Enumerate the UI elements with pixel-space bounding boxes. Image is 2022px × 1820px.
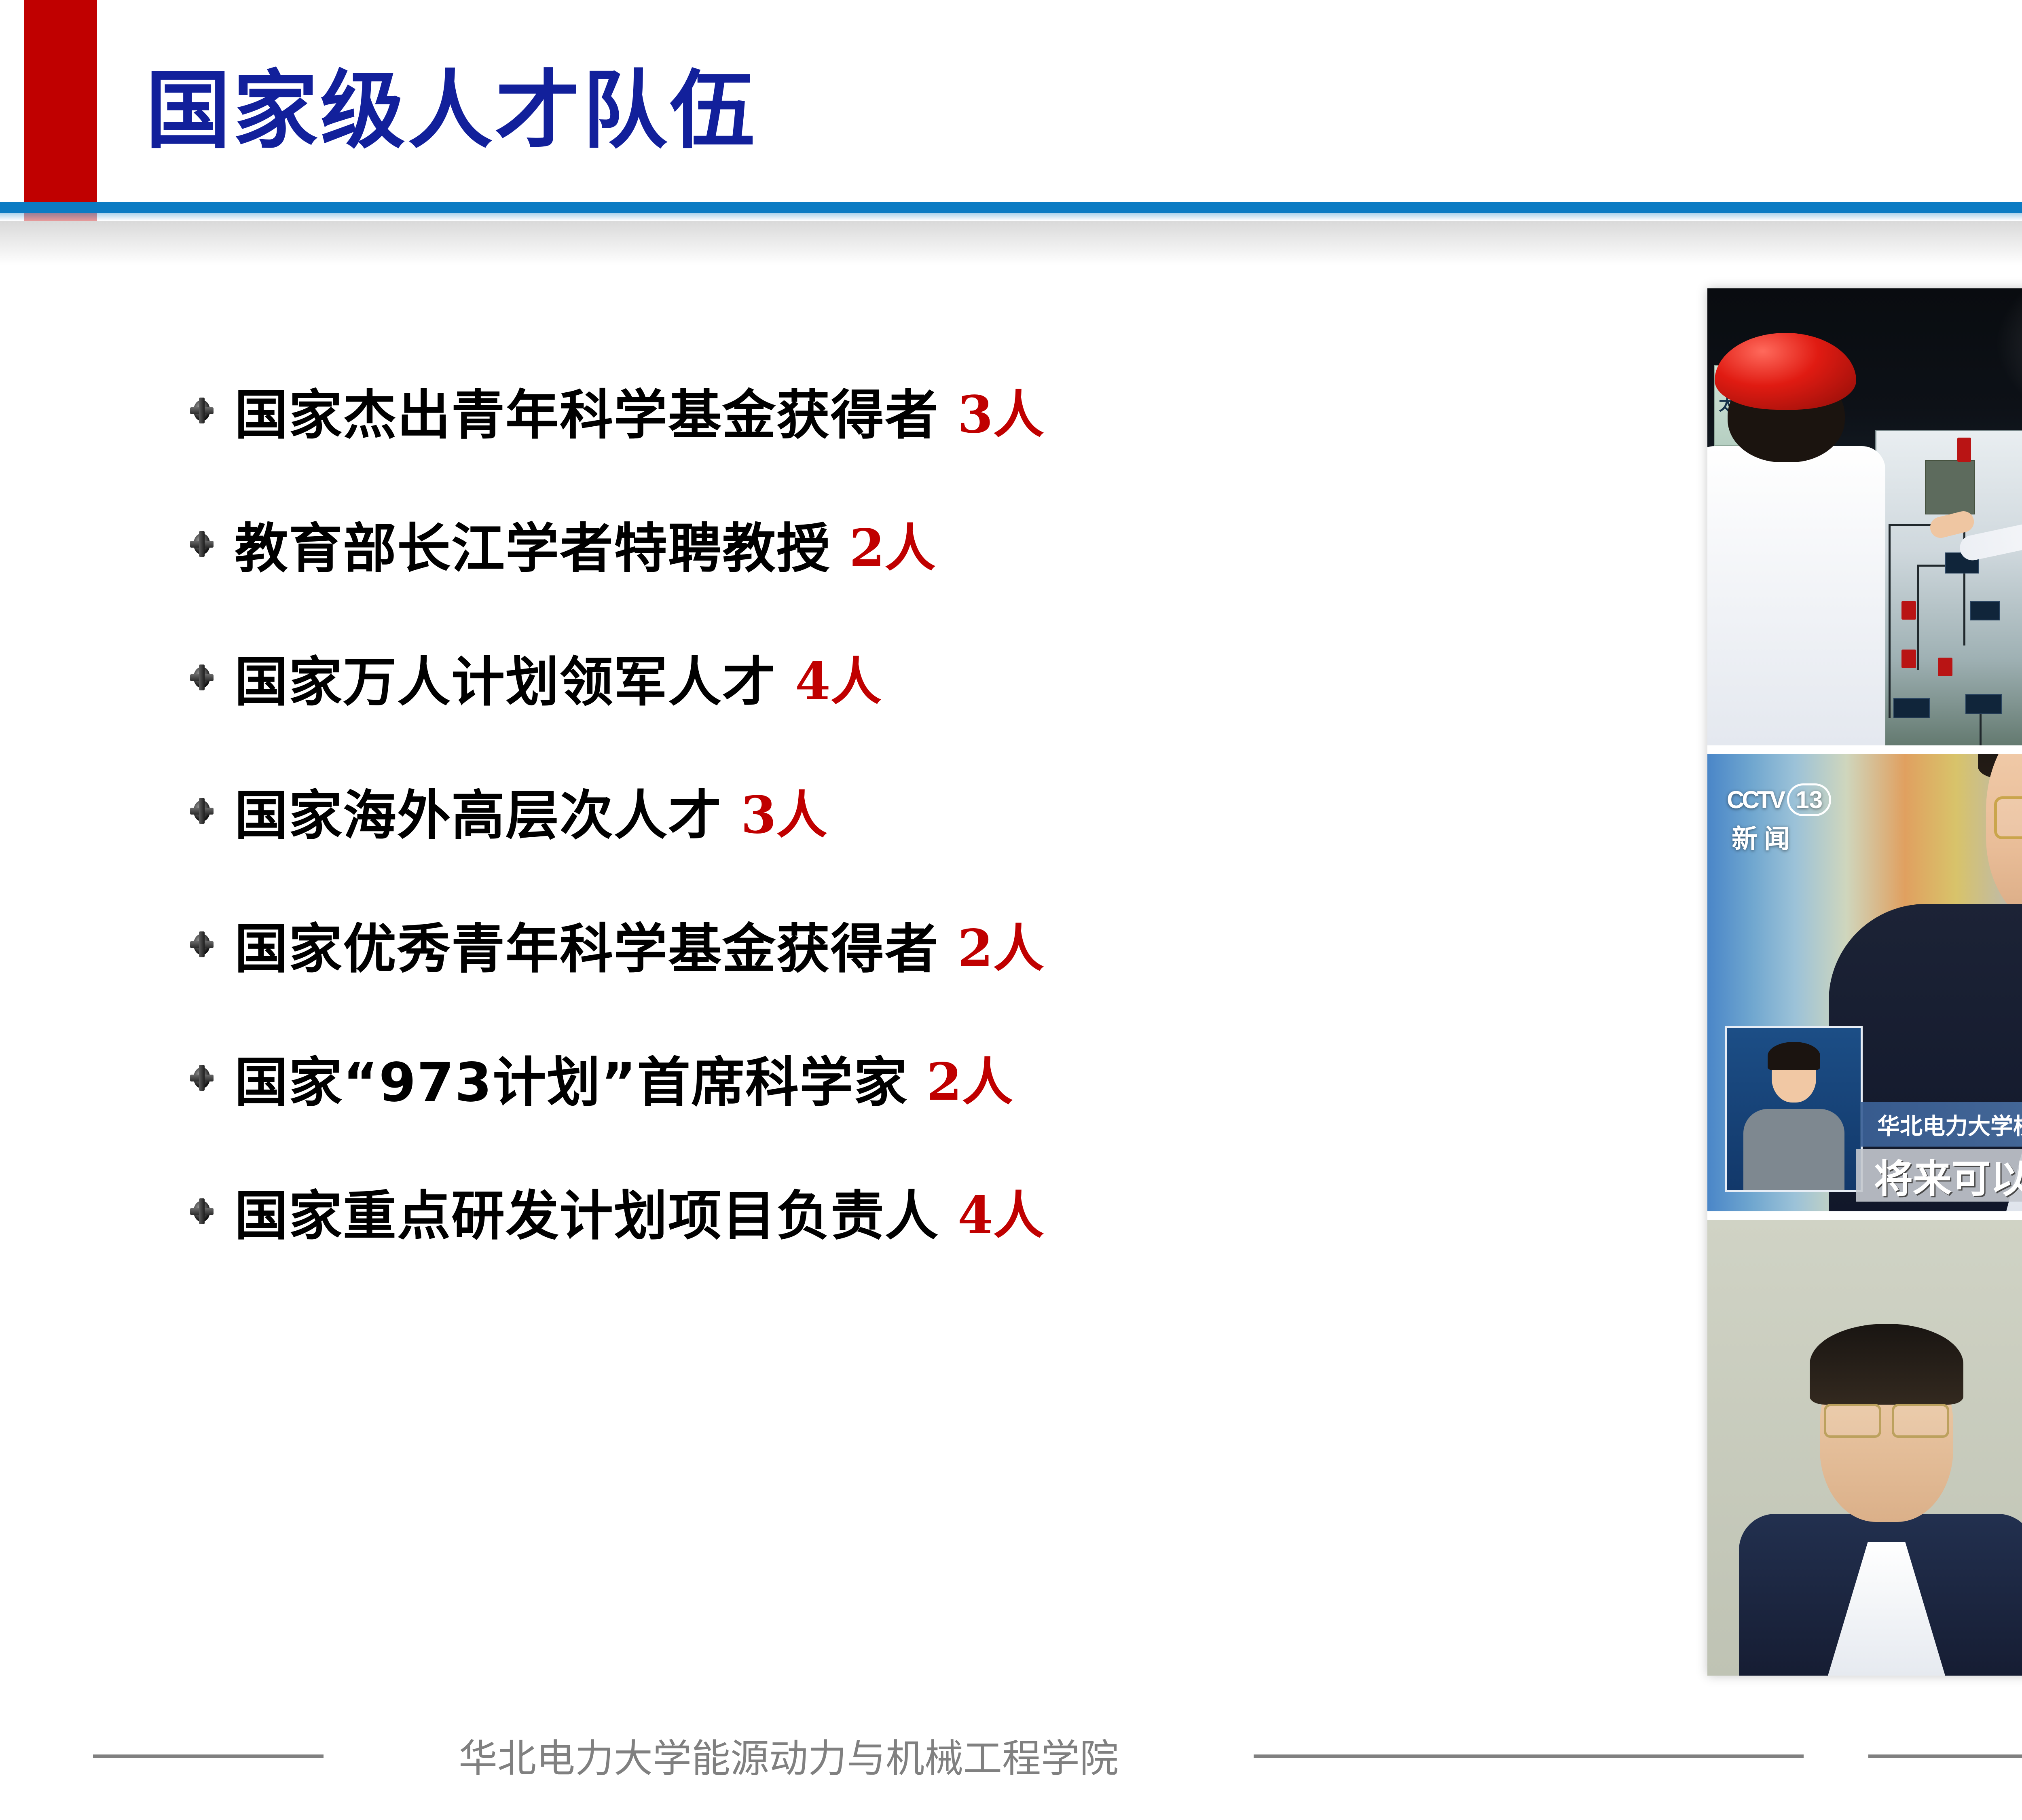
talent-list: 国家杰出青年科学基金获得者 3人 教育部长江学者特聘教授 2人 国家万人计划领军… [190,344,1686,1278]
cctv-lower-third: 华北电力大学校长中国工程物理学会副理事长 杨勇平 [1861,1102,2022,1147]
cctv-channel-sub: 新闻 [1732,818,1796,855]
footer-rule-mid-right [1868,1754,2022,1758]
list-item-count: 2人 [958,908,1044,981]
bullet-orb-icon [190,1198,214,1224]
cctv-logo: CCTV13 [1727,775,1831,817]
eyeglasses-icon [1994,796,2022,835]
list-item-count: 4人 [795,641,882,714]
bullet-orb-icon [190,798,214,824]
list-item-count: 3人 [741,774,827,848]
header-gradient-wash [0,221,2022,265]
list-item-count: 3人 [958,374,1044,447]
eyeglasses-icon [1824,1404,1949,1433]
list-item: 国家“973计划”首席科学家 2人 [190,1011,1686,1145]
photo-cctv-interview: CCTV13 新闻 央新 华北电力大学校长中国工程物理学会副理事长 杨勇平 [1707,754,2022,1211]
portrait-3 [1707,1220,2022,1676]
collage-row-1: 华北电力 太原东部 [1707,288,2022,745]
bullet-orb-icon [190,398,214,423]
footer-rule-mid-left [1254,1754,1804,1758]
photo-laboratory: 华北电力 太原东部 [1707,288,2022,745]
list-item-label: 国家“973计划”首席科学家 [235,1039,908,1117]
list-item-label: 国家杰出青年科学基金获得者 [235,372,939,449]
page-title: 国家级人才队伍 [146,36,1197,170]
list-item: 国家优秀青年科学基金获得者 2人 [190,878,1686,1011]
list-item: 教育部长江学者特聘教授 2人 [190,477,1686,611]
header-blue-bar-reflection [0,213,2022,221]
list-item: 国家杰出青年科学基金获得者 3人 [190,344,1686,477]
footer-institution: 华北电力大学能源动力与机械工程学院 [332,1727,1246,1783]
cctv-caption: 将来可以替代我们的石油 [1856,1149,2022,1202]
researcher-back [1707,373,1885,745]
photo-collage: 华北电力 太原东部 [1707,288,2022,1676]
footer-rule-left [93,1754,324,1758]
slide-root: 国家级人才队伍 1958 NORTH CHINA ELECTRIC POWER … [0,0,2022,1820]
list-item-label: 国家优秀青年科学基金获得者 [235,906,939,983]
portrait-hair [1810,1324,1963,1405]
bullet-orb-icon [190,665,214,690]
cctv-channel-number: 13 [1787,783,1831,816]
bullet-orb-icon [190,931,214,957]
list-item-label: 国家重点研发计划项目负责人 [235,1173,939,1250]
header-blue-divider-bar [0,202,2022,213]
list-item: 国家万人计划领军人才 4人 [190,611,1686,744]
list-item-label: 国家海外高层次人才 [235,772,722,850]
list-item-label: 教育部长江学者特聘教授 [235,506,831,583]
sign-language-inset [1725,1026,1863,1192]
list-item: 国家海外高层次人才 3人 [190,744,1686,878]
control-cabinet [1875,430,2022,745]
header-red-accent-bar [24,0,97,206]
list-item-count: 2人 [849,507,936,581]
list-item-label: 国家万人计划领军人才 [235,639,776,716]
collage-row-3 [1707,1220,2022,1676]
bullet-orb-icon [190,1065,214,1091]
bullet-orb-icon [190,531,214,557]
cctv-logo-text: CCTV [1727,786,1783,813]
list-item-count: 2人 [926,1041,1013,1115]
collage-row-2: CCTV13 新闻 央新 华北电力大学校长中国工程物理学会副理事长 杨勇平 [1707,754,2022,1211]
list-item-count: 4人 [958,1175,1044,1248]
list-item: 国家重点研发计划项目负责人 4人 [190,1145,1686,1278]
